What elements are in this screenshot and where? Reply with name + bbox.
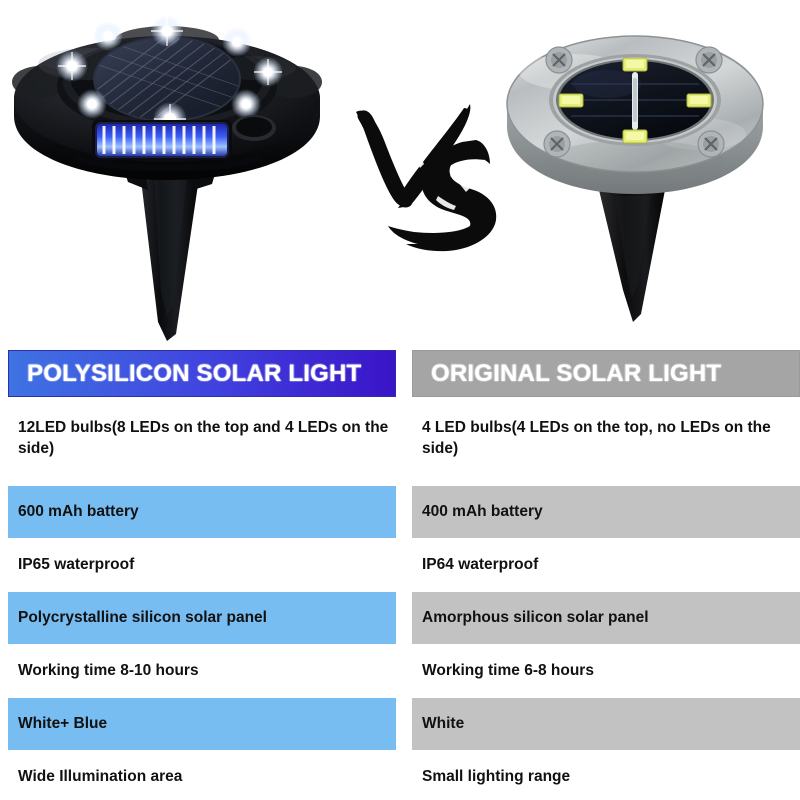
spacer	[412, 644, 800, 654]
versus-brush-mark	[352, 78, 502, 258]
product-photo-area	[0, 0, 800, 350]
spec-row-left-illumination: Wide Illumination area	[8, 760, 396, 794]
spec-right-battery-text: 400 mAh battery	[422, 502, 543, 523]
spacer	[412, 538, 800, 548]
original-header-label: ORIGINAL SOLAR LIGHT	[431, 360, 721, 388]
vs-icon	[352, 78, 502, 258]
comparison-column-original: ORIGINAL SOLAR LIGHT 4 LED bulbs(4 LEDs …	[412, 350, 800, 794]
spacer	[8, 750, 396, 760]
spacer	[412, 582, 800, 592]
spacer	[412, 476, 800, 486]
spacer	[8, 688, 396, 698]
led-top	[623, 58, 647, 71]
spacer	[8, 644, 396, 654]
ground-stake	[599, 190, 665, 322]
polysilicon-header-label: POLYSILICON SOLAR LIGHT	[27, 360, 361, 388]
spec-right-working-time-text: Working time 6-8 hours	[422, 661, 594, 682]
silver-solar-light-illustration	[495, 22, 780, 337]
led-left	[559, 94, 583, 107]
spec-row-left-color: White+ Blue	[8, 698, 396, 750]
spec-left-working-time-text: Working time 8-10 hours	[18, 661, 199, 682]
spec-row-left-led-bulbs: 12LED bulbs(8 LEDs on the top and 4 LEDs…	[8, 414, 396, 476]
spec-right-color-text: White	[422, 714, 464, 735]
spacer	[412, 688, 800, 698]
spec-left-waterproof-text: IP65 waterproof	[18, 555, 134, 576]
right-product-image-silver-solar-light	[495, 22, 780, 337]
spec-row-left-waterproof: IP65 waterproof	[8, 548, 396, 582]
side-blue-led-window	[92, 120, 232, 160]
spec-row-left-panel: Polycrystalline silicon solar panel	[8, 592, 396, 644]
left-product-image-black-solar-light	[4, 4, 334, 344]
spec-row-left-working-time: Working time 8-10 hours	[8, 654, 396, 688]
spec-right-lighting-range-text: Small lighting range	[422, 767, 570, 788]
spec-row-right-lighting-range: Small lighting range	[412, 760, 800, 794]
spec-row-right-color: White	[412, 698, 800, 750]
product-comparison-table: POLYSILICON SOLAR LIGHT 12LED bulbs(8 LE…	[0, 350, 800, 800]
led-bottom	[623, 130, 647, 143]
spec-left-led-bulbs-text: 12LED bulbs(8 LEDs on the top and 4 LEDs…	[18, 418, 390, 460]
spec-row-right-waterproof: IP64 waterproof	[412, 548, 800, 582]
spec-left-panel-text: Polycrystalline silicon solar panel	[18, 608, 267, 629]
spec-left-battery-text: 600 mAh battery	[18, 502, 139, 523]
spec-right-panel-text: Amorphous silicon solar panel	[422, 608, 649, 629]
spec-right-led-bulbs-text: 4 LED bulbs(4 LEDs on the top, no LEDs o…	[422, 418, 794, 460]
spacer	[8, 582, 396, 592]
black-solar-light-illustration	[4, 4, 334, 344]
spacer	[8, 476, 396, 486]
led-right	[687, 94, 711, 107]
spec-row-right-led-bulbs: 4 LED bulbs(4 LEDs on the top, no LEDs o…	[412, 414, 800, 476]
spacer	[8, 538, 396, 548]
ground-stake	[122, 164, 218, 341]
polysilicon-column-header: POLYSILICON SOLAR LIGHT	[8, 350, 396, 397]
spec-row-right-battery: 400 mAh battery	[412, 486, 800, 538]
spec-right-waterproof-text: IP64 waterproof	[422, 555, 538, 576]
spec-left-color-text: White+ Blue	[18, 714, 107, 735]
spec-row-left-battery: 600 mAh battery	[8, 486, 396, 538]
original-column-header: ORIGINAL SOLAR LIGHT	[412, 350, 800, 397]
spec-left-illumination-text: Wide Illumination area	[18, 767, 182, 788]
housing-side-slot	[232, 115, 276, 141]
spacer	[412, 750, 800, 760]
spec-row-right-panel: Amorphous silicon solar panel	[412, 592, 800, 644]
spec-row-right-working-time: Working time 6-8 hours	[412, 654, 800, 688]
comparison-column-polysilicon: POLYSILICON SOLAR LIGHT 12LED bulbs(8 LE…	[8, 350, 396, 794]
